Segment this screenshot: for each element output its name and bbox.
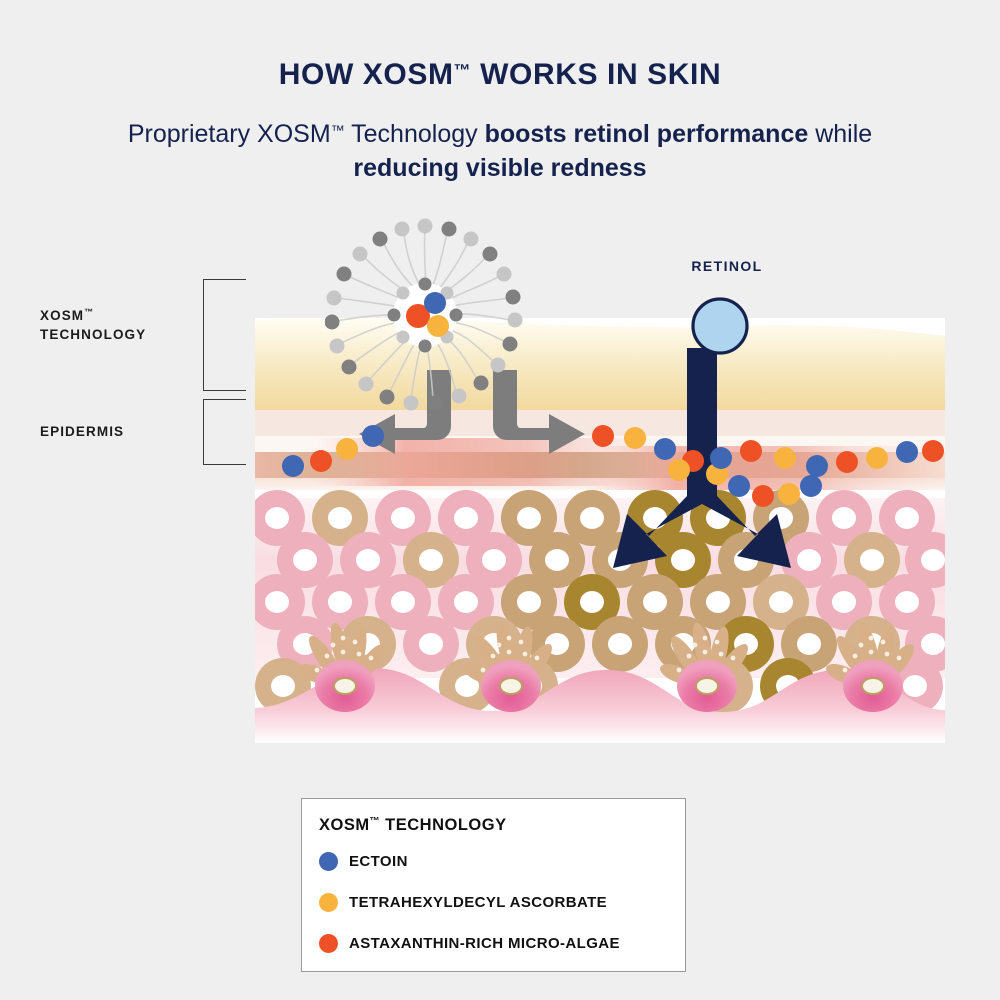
page-subtitle: Proprietary XOSM™ Technology boosts reti…	[120, 113, 880, 185]
particle-tha	[778, 483, 800, 505]
legend-swatch-ectoin	[319, 852, 338, 871]
particle-astaxanthin	[922, 440, 944, 462]
label-xosm-technology: XOSM™ TECHNOLOGY	[40, 303, 200, 344]
particle-astaxanthin	[592, 425, 614, 447]
label-retinol: RETINOL	[617, 258, 837, 274]
legend-title: XOSM™ TECHNOLOGY	[319, 816, 507, 835]
legend-label-astaxanthin-rich-micro-algae: ASTAXANTHIN-RICH MICRO-ALGAE	[349, 935, 620, 952]
bracket-xosm-technology	[203, 279, 246, 391]
particle-tha	[624, 427, 646, 449]
particle-ectoin	[282, 455, 304, 477]
legend-title-pre: XOSM	[319, 816, 370, 834]
particle-astaxanthin	[836, 451, 858, 473]
label-retinol-text: RETINOL	[691, 258, 762, 274]
legend-label-tetrahexyldecyl-ascorbate: TETRAHEXYLDECYL ASCORBATE	[349, 894, 607, 911]
particle-ectoin	[362, 425, 384, 447]
particle-tha	[668, 459, 690, 481]
particle-tha	[866, 447, 888, 469]
particle-tha	[336, 438, 358, 460]
particle-astaxanthin	[752, 485, 774, 507]
label-epidermis: EPIDERMIS	[40, 422, 200, 441]
legend-title-post: TECHNOLOGY	[380, 816, 507, 834]
trademark-icon: ™	[370, 816, 381, 827]
subtitle-bold-2: reducing visible redness	[353, 154, 646, 182]
infographic-canvas: HOW XOSM™ WORKS IN SKIN Proprietary XOSM…	[0, 0, 1000, 1000]
particle-astaxanthin	[310, 450, 332, 472]
particle-ectoin	[654, 438, 676, 460]
legend-swatch-astaxanthin-rich-micro-algae	[319, 934, 338, 953]
particle-ectoin	[728, 475, 750, 497]
bracket-epidermis	[203, 399, 246, 465]
legend-label-ectoin: ECTOIN	[349, 853, 408, 870]
page-title: HOW XOSM™ WORKS IN SKIN	[0, 58, 1000, 92]
label-xosm-line1: XOSM	[40, 308, 84, 323]
particle-ectoin	[800, 475, 822, 497]
trademark-icon: ™	[84, 307, 94, 317]
page-title-post: WORKS IN SKIN	[471, 58, 721, 91]
subtitle-part-3: while	[808, 120, 872, 148]
subtitle-part-2: Technology	[345, 120, 485, 148]
trademark-icon: ™	[331, 122, 345, 138]
label-epidermis-text: EPIDERMIS	[40, 424, 124, 439]
label-xosm-line2: TECHNOLOGY	[40, 327, 146, 342]
particle-ectoin	[896, 441, 918, 463]
particle-astaxanthin	[740, 440, 762, 462]
legend-swatch-tetrahexyldecyl-ascorbate	[319, 893, 338, 912]
cell	[592, 616, 648, 672]
subtitle-part-1: Proprietary XOSM	[128, 120, 331, 148]
page-title-pre: HOW XOSM	[279, 58, 454, 91]
subtitle-bold-1: boosts retinol performance	[485, 120, 809, 148]
xosm-liposome	[325, 218, 525, 418]
core-particle-ectoin	[424, 292, 446, 314]
particle-ectoin	[806, 455, 828, 477]
core-particle-tha	[427, 315, 449, 337]
trademark-icon: ™	[454, 61, 472, 80]
redness-glow-right	[585, 446, 945, 490]
legend-box: XOSM™ TECHNOLOGY ECTOIN TETRAHEXYLDECYL …	[301, 798, 686, 972]
particle-tha	[774, 447, 796, 469]
particle-ectoin	[710, 447, 732, 469]
retinol-molecule-icon	[688, 294, 752, 358]
